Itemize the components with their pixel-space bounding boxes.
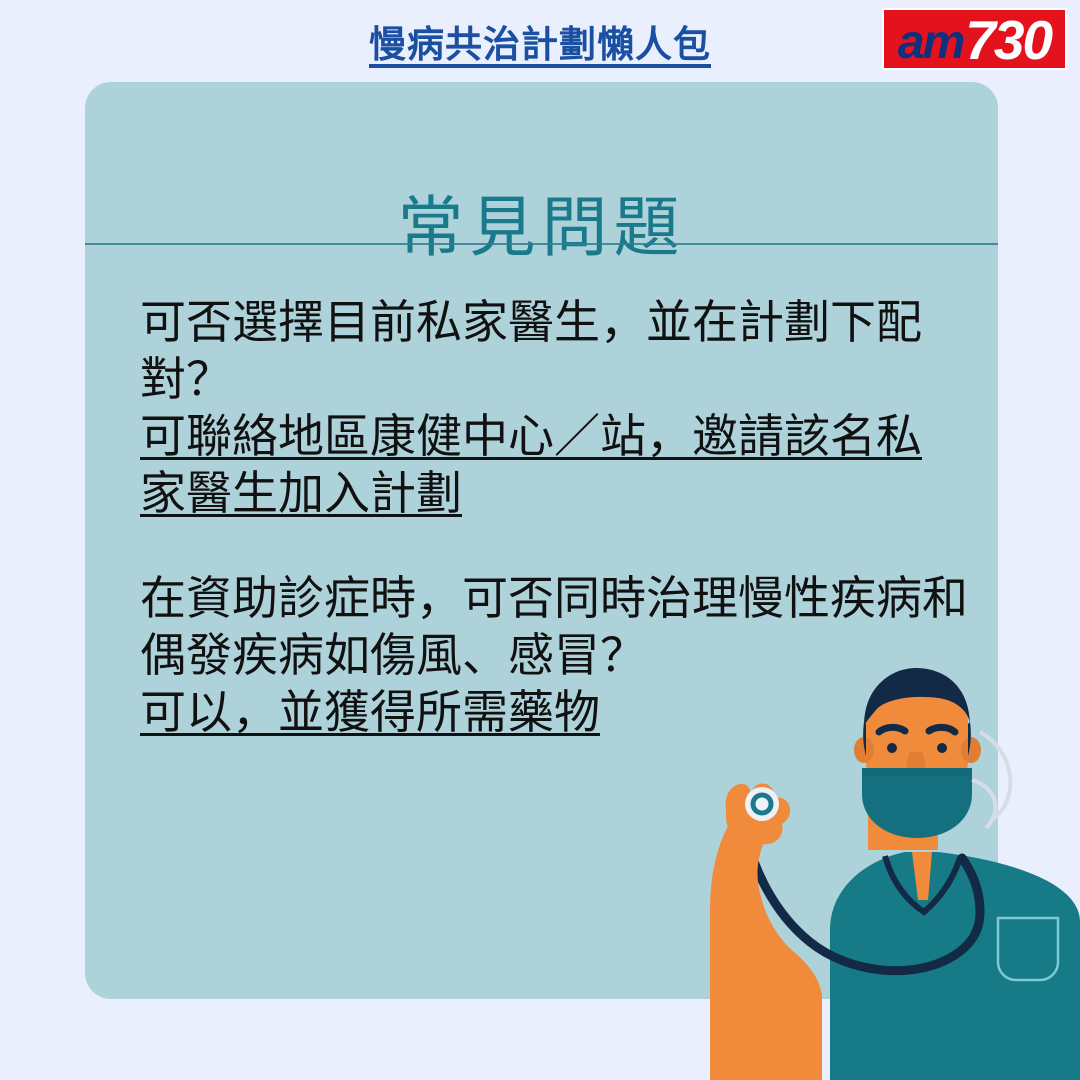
faq-list: 可否選擇目前私家醫生，並在計劃下配對？ 可聯絡地區康健中心／站，邀請該名私家醫生…	[140, 294, 980, 789]
faq-answer-wrap: 可聯絡地區康健中心／站，邀請該名私家醫生加入計劃	[140, 408, 960, 522]
logo-text-730: 730	[965, 14, 1051, 66]
faq-question: 在資助診症時，可否同時治理慢性疾病和偶發疾病如傷風、感冒？	[140, 570, 980, 684]
faq-question: 可否選擇目前私家醫生，並在計劃下配對？	[140, 294, 980, 408]
infographic-page: 慢病共治計劃懶人包 am 730 常見問題 可否選擇目前私家醫生，並在計劃下配對…	[0, 0, 1080, 1080]
header: 慢病共治計劃懶人包 am 730	[0, 0, 1080, 82]
card-divider	[85, 243, 998, 245]
logo-text-am: am	[898, 20, 963, 66]
faq-card: 常見問題 可否選擇目前私家醫生，並在計劃下配對？ 可聯絡地區康健中心／站，邀請該…	[85, 82, 998, 999]
faq-item: 在資助診症時，可否同時治理慢性疾病和偶發疾病如傷風、感冒？ 可以，並獲得所需藥物	[140, 570, 980, 741]
card-heading: 常見問題	[85, 194, 998, 260]
faq-item: 可否選擇目前私家醫生，並在計劃下配對？ 可聯絡地區康健中心／站，邀請該名私家醫生…	[140, 294, 980, 522]
am730-logo: am 730	[882, 8, 1067, 70]
faq-answer: 可聯絡地區康健中心／站，邀請該名私家醫生加入計劃	[140, 410, 922, 519]
faq-answer-wrap: 可以，並獲得所需藥物	[140, 684, 960, 741]
scrubs-pocket	[998, 918, 1058, 980]
faq-answer: 可以，並獲得所需藥物	[140, 686, 600, 738]
